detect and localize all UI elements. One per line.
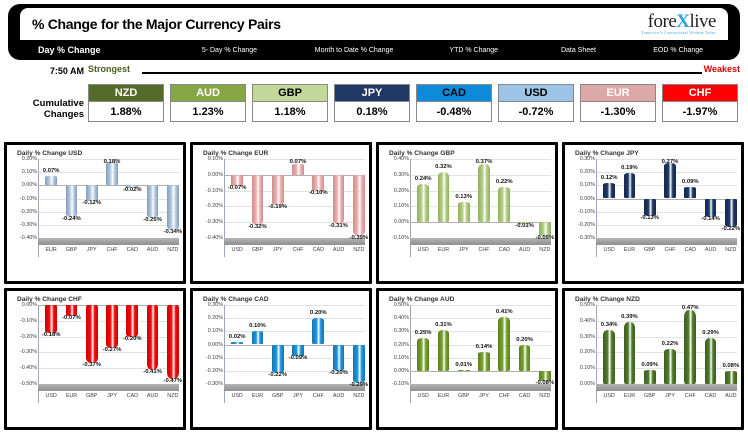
data-label-gbp: 0.09% xyxy=(641,362,658,368)
x-axis-label-eur: EUR xyxy=(438,247,449,253)
logo-x-icon: X xyxy=(676,11,689,32)
x-axis-label-usd: USD xyxy=(417,247,428,253)
y-axis-tick: 0.20% xyxy=(381,188,409,194)
data-label-aud: -0.14% xyxy=(701,216,720,222)
x-axis-label-gbp: GBP xyxy=(252,247,263,253)
data-label-usd: -0.18% xyxy=(42,332,61,338)
x-axis-label-aud: AUD xyxy=(147,247,158,253)
x-axis-label-chf: CHF xyxy=(685,393,696,399)
gridline xyxy=(596,305,737,306)
data-label-aud: -0.20% xyxy=(329,370,348,376)
bar-cad xyxy=(312,175,324,191)
x-axis-label-nzd: NZD xyxy=(353,393,364,399)
bar-jpy xyxy=(106,305,118,348)
data-label-usd: -0.07% xyxy=(228,185,247,191)
bar-chf xyxy=(684,310,696,384)
y-axis-tick: -0.30% xyxy=(195,219,223,225)
bar-aud xyxy=(725,371,737,384)
chart-grid: Daily % Change USD0.20%0.10%0.00%-0.10%-… xyxy=(4,142,744,430)
data-label-nzd: -0.22% xyxy=(722,226,741,232)
data-label-eur: 0.10% xyxy=(249,323,266,329)
x-axis-label-cad: CAD xyxy=(685,247,696,253)
x-axis-label-eur: EUR xyxy=(624,393,635,399)
chart-floor xyxy=(224,384,365,391)
x-axis-label-nzd: NZD xyxy=(539,247,550,253)
x-axis-label-chf: CHF xyxy=(664,247,675,253)
logo-text-post: live xyxy=(690,11,717,32)
bar-nzd xyxy=(353,175,365,237)
plot-area: 0.50%0.40%0.30%0.20%0.10%0.00%0.34%USD0.… xyxy=(565,305,741,427)
cumulative-cells: NZD1.88%AUD1.23%GBP1.18%JPY0.18%CAD-0.48… xyxy=(88,84,738,122)
tab-data-sheet[interactable]: Data Sheet xyxy=(529,47,629,54)
y-axis-tick: -0.20% xyxy=(9,209,37,215)
data-label-cad: 0.09% xyxy=(682,179,699,185)
bar-usd xyxy=(417,338,429,371)
chart-usd: Daily % Change USD0.20%0.10%0.00%-0.10%-… xyxy=(7,145,183,281)
data-label-eur: 0.39% xyxy=(621,314,638,320)
gridline xyxy=(224,305,365,306)
x-axis-label-gbp: GBP xyxy=(458,393,469,399)
gridline xyxy=(410,318,551,319)
data-label-eur: 0.32% xyxy=(435,164,452,170)
data-label-aud: 0.08% xyxy=(722,363,739,369)
gridline xyxy=(596,225,737,226)
currency-change-value: 0.18% xyxy=(334,102,410,122)
data-label-gbp: -0.32% xyxy=(248,224,267,230)
bar-nzd xyxy=(167,305,179,379)
y-axis-tick: -0.50% xyxy=(9,381,37,387)
bar-nzd xyxy=(167,185,179,230)
x-axis-label-gbp: GBP xyxy=(644,393,655,399)
data-label-usd: 0.12% xyxy=(601,175,618,181)
gridline xyxy=(410,305,551,306)
currency-code: CAD xyxy=(416,84,492,102)
page-title: % Change for the Major Currency Pairs xyxy=(32,16,281,32)
tab-day-change[interactable]: Day % Change xyxy=(20,45,170,55)
gridline xyxy=(224,331,365,332)
y-axis-tick: 0.30% xyxy=(567,334,595,340)
y-axis-tick: -0.20% xyxy=(9,334,37,340)
currency-change-value: -1.30% xyxy=(580,102,656,122)
bar-eur xyxy=(624,173,636,198)
y-axis-tick: 0.10% xyxy=(567,365,595,371)
y-axis-tick: 0.20% xyxy=(567,349,595,355)
tab-eod-change[interactable]: EOD % Change xyxy=(628,47,728,54)
x-axis-label-usd: USD xyxy=(231,247,242,253)
chart-floor xyxy=(596,384,737,391)
chart-floor xyxy=(596,238,737,245)
y-axis-tick: 0.00% xyxy=(381,368,409,374)
bar-gbp xyxy=(252,175,264,226)
data-label-aud: -0.25% xyxy=(143,217,162,223)
currency-code: GBP xyxy=(252,84,328,102)
bar-gbp xyxy=(644,370,656,384)
data-label-jpy: -0.09% xyxy=(289,355,308,361)
y-axis-tick: 0.00% xyxy=(381,219,409,225)
y-axis-tick: -0.30% xyxy=(567,235,595,241)
x-axis-label-eur: EUR xyxy=(252,393,263,399)
logo-tagline: Tomorrow's Conventional Wisdom Today xyxy=(642,32,716,36)
y-axis-tick: 0.30% xyxy=(567,156,595,162)
bar-chf xyxy=(312,318,324,344)
bar-gbp xyxy=(66,185,78,217)
currency-code: CHF xyxy=(662,84,738,102)
data-label-aud: -0.41% xyxy=(143,369,162,375)
bar-eur xyxy=(438,330,450,371)
x-axis-label-cad: CAD xyxy=(127,393,138,399)
y-axis-tick: -0.30% xyxy=(9,222,37,228)
data-label-cad: 0.22% xyxy=(496,179,513,185)
x-axis-label-jpy: JPY xyxy=(107,393,117,399)
chart-eur: Daily % Change EUR0.10%0.00%-0.10%-0.20%… xyxy=(193,145,369,281)
data-label-chf: 0.18% xyxy=(104,159,121,165)
y-axis-tick: -0.40% xyxy=(195,235,223,241)
x-axis-label-nzd: NZD xyxy=(725,247,736,253)
header-frame: % Change for the Major Currency Pairs fo… xyxy=(8,4,740,60)
data-label-usd: 0.25% xyxy=(415,330,432,336)
cumulative-cell-nzd: NZD1.88% xyxy=(88,84,164,122)
dashboard-root: % Change for the Major Currency Pairs fo… xyxy=(0,0,748,434)
cumulative-cell-eur: EUR-1.30% xyxy=(580,84,656,122)
y-axis-tick: 0.20% xyxy=(381,342,409,348)
currency-change-value: 1.18% xyxy=(252,102,328,122)
y-axis-tick: 0.10% xyxy=(381,203,409,209)
tab-5-day-change[interactable]: 5- Day % Change xyxy=(170,47,290,54)
data-label-usd: 0.02% xyxy=(229,334,246,340)
y-axis-tick: 0.40% xyxy=(381,156,409,162)
currency-change-value: 1.88% xyxy=(88,102,164,122)
y-axis-tick: 0.00% xyxy=(567,381,595,387)
y-axis-tick: 0.40% xyxy=(567,318,595,324)
plot-area: 0.30%0.20%0.10%0.00%-0.10%-0.20%-0.30%0.… xyxy=(565,159,741,281)
plot-area: 0.20%0.10%0.00%-0.10%-0.20%-0.30%-0.40%0… xyxy=(7,159,183,281)
data-label-cad: -0.20% xyxy=(123,336,142,342)
cumulative-changes-label: Cumulative Changes xyxy=(8,98,84,120)
x-axis-label-usd: USD xyxy=(45,393,56,399)
y-axis-tick: -0.10% xyxy=(9,318,37,324)
data-label-cad: 0.20% xyxy=(516,337,533,343)
bar-jpy xyxy=(86,185,98,201)
y-axis-tick: 0.20% xyxy=(567,169,595,175)
cumulative-cell-usd: USD-0.72% xyxy=(498,84,574,122)
y-axis-tick: 0.00% xyxy=(195,342,223,348)
chart-nzd: Daily % Change NZD0.50%0.40%0.30%0.20%0.… xyxy=(565,291,741,427)
chart-panel-cad: Daily % Change CAD0.30%0.20%0.10%0.00%-0… xyxy=(190,288,372,430)
data-label-nzd: -0.09% xyxy=(536,235,555,241)
y-axis-tick: 0.30% xyxy=(381,172,409,178)
chart-cad: Daily % Change CAD0.30%0.20%0.10%0.00%-0… xyxy=(193,291,369,427)
data-label-eur: -0.07% xyxy=(62,315,81,321)
x-axis-label-nzd: NZD xyxy=(539,393,550,399)
y-axis-tick: 0.30% xyxy=(195,302,223,308)
currency-code: EUR xyxy=(580,84,656,102)
chart-gbp: Daily % Change GBP0.40%0.30%0.20%0.10%0.… xyxy=(379,145,555,281)
currency-change-value: 1.23% xyxy=(170,102,246,122)
plot-area: 0.10%0.00%-0.10%-0.20%-0.30%-0.40%-0.07%… xyxy=(193,159,369,281)
x-axis-label-cad: CAD xyxy=(499,247,510,253)
chart-jpy: Daily % Change JPY0.30%0.20%0.10%0.00%-0… xyxy=(565,145,741,281)
data-label-usd: 0.24% xyxy=(415,176,432,182)
x-axis-label-nzd: NZD xyxy=(167,393,178,399)
currency-change-value: -0.72% xyxy=(498,102,574,122)
x-axis-label-chf: CHF xyxy=(478,247,489,253)
y-axis-tick: 0.00% xyxy=(9,302,37,308)
bar-gbp xyxy=(272,345,284,374)
bar-usd xyxy=(603,330,615,384)
x-axis-label-aud: AUD xyxy=(725,393,736,399)
x-axis-label-usd: USD xyxy=(417,393,428,399)
chart-chf: Daily % Change CHF0.00%-0.10%-0.20%-0.30… xyxy=(7,291,183,427)
data-label-cad: -0.10% xyxy=(309,190,328,196)
data-label-jpy: -0.19% xyxy=(268,204,287,210)
data-label-cad: 0.29% xyxy=(702,330,719,336)
data-label-nzd: -0.34% xyxy=(164,229,183,235)
x-axis-label-nzd: NZD xyxy=(167,247,178,253)
bar-usd xyxy=(603,183,615,199)
x-axis-label-chf: CHF xyxy=(499,393,510,399)
data-label-aud: -0.31% xyxy=(329,223,348,229)
chart-panel-gbp: Daily % Change GBP0.40%0.30%0.20%0.10%0.… xyxy=(376,142,558,284)
y-axis-tick: -0.40% xyxy=(9,365,37,371)
bar-jpy xyxy=(664,349,676,384)
y-axis-tick: 0.10% xyxy=(195,328,223,334)
chart-floor xyxy=(224,238,365,245)
data-label-nzd: -0.47% xyxy=(164,378,183,384)
data-label-chf: 0.41% xyxy=(496,309,513,315)
gridline xyxy=(224,318,365,319)
data-label-aud: -0.01% xyxy=(515,223,534,229)
cumulative-cell-gbp: GBP1.18% xyxy=(252,84,328,122)
y-axis-tick: -0.30% xyxy=(195,381,223,387)
y-axis-tick: 0.30% xyxy=(381,328,409,334)
tab-month-to-date-change[interactable]: Month to Date % Change xyxy=(289,47,419,54)
chart-panel-eur: Daily % Change EUR0.10%0.00%-0.10%-0.20%… xyxy=(190,142,372,284)
y-axis-tick: 0.00% xyxy=(567,196,595,202)
bar-jpy xyxy=(272,175,284,205)
x-axis-label-aud: AUD xyxy=(147,393,158,399)
bar-gbp xyxy=(458,370,470,371)
bar-chf xyxy=(498,317,510,371)
x-axis-label-jpy: JPY xyxy=(87,247,97,253)
x-axis-label-jpy: JPY xyxy=(479,393,489,399)
x-axis-label-chf: CHF xyxy=(313,393,324,399)
bar-jpy xyxy=(458,202,470,223)
data-label-jpy: 0.22% xyxy=(662,341,679,347)
x-axis-label-chf: CHF xyxy=(292,247,303,253)
data-label-chf: 0.47% xyxy=(682,305,699,311)
x-axis-label-chf: CHF xyxy=(106,247,117,253)
gridline xyxy=(38,225,179,226)
y-axis-tick: -0.20% xyxy=(195,368,223,374)
title-bar: % Change for the Major Currency Pairs fo… xyxy=(20,8,728,40)
plot-area: 0.50%0.40%0.30%0.20%0.10%0.00%-0.10%0.25… xyxy=(379,305,555,427)
chart-aud: Daily % Change AUD0.50%0.40%0.30%0.20%0.… xyxy=(379,291,555,427)
bar-gbp xyxy=(644,199,656,216)
x-axis-label-eur: EUR xyxy=(438,393,449,399)
bar-jpy xyxy=(478,352,490,370)
y-axis-tick: -0.10% xyxy=(381,381,409,387)
data-label-cad: -0.02% xyxy=(123,187,142,193)
x-axis-label-usd: USD xyxy=(603,393,614,399)
chart-panel-usd: Daily % Change USD0.20%0.10%0.00%-0.10%-… xyxy=(4,142,186,284)
bar-aud xyxy=(333,175,345,224)
y-axis-tick: 0.10% xyxy=(567,182,595,188)
bar-aud xyxy=(147,185,159,218)
y-axis-tick: -0.10% xyxy=(195,188,223,194)
y-axis-tick: 0.10% xyxy=(9,169,37,175)
bar-cad xyxy=(705,338,717,384)
bar-cad xyxy=(684,187,696,199)
bar-gbp xyxy=(86,305,98,363)
chart-panel-aud: Daily % Change AUD0.50%0.40%0.30%0.20%0.… xyxy=(376,288,558,430)
strongest-label: Strongest xyxy=(88,64,130,74)
chart-panel-chf: Daily % Change CHF0.00%-0.10%-0.20%-0.30… xyxy=(4,288,186,430)
gridline xyxy=(596,337,737,338)
weakest-label: Weakest xyxy=(704,64,740,74)
cumulative-section: Strongest Weakest 7:50 AM Cumulative Cha… xyxy=(0,62,748,138)
chart-floor xyxy=(410,238,551,245)
chart-floor xyxy=(410,384,551,391)
strength-axis-line xyxy=(142,72,702,74)
currency-change-value: -0.48% xyxy=(416,102,492,122)
currency-code: AUD xyxy=(170,84,246,102)
y-axis-tick: 0.20% xyxy=(9,156,37,162)
x-axis-label-eur: EUR xyxy=(66,393,77,399)
bar-nzd xyxy=(539,222,551,236)
x-axis-label-gbp: GBP xyxy=(66,247,77,253)
bar-chf xyxy=(664,163,676,199)
x-axis-label-jpy: JPY xyxy=(293,393,303,399)
bar-eur xyxy=(45,176,57,185)
currency-change-value: -1.97% xyxy=(662,102,738,122)
bar-aud xyxy=(705,199,717,217)
cumulative-cell-aud: AUD1.23% xyxy=(170,84,246,122)
x-axis-label-cad: CAD xyxy=(705,393,716,399)
y-axis-tick: -0.10% xyxy=(195,355,223,361)
bar-aud xyxy=(333,345,345,371)
tab-bar: Day % Change5- Day % ChangeMonth to Date… xyxy=(20,40,728,60)
y-axis-tick: -0.30% xyxy=(9,349,37,355)
y-axis-tick: 0.10% xyxy=(381,355,409,361)
bar-aud xyxy=(147,305,159,370)
x-axis-label-cad: CAD xyxy=(313,247,324,253)
x-axis-label-eur: EUR xyxy=(624,247,635,253)
currency-code: USD xyxy=(498,84,574,102)
y-axis-tick: -0.10% xyxy=(9,196,37,202)
chart-floor xyxy=(38,384,179,391)
data-label-chf: 0.27% xyxy=(662,159,679,165)
x-axis-label-jpy: JPY xyxy=(459,247,469,253)
bar-cad xyxy=(519,345,531,371)
y-axis-tick: -0.10% xyxy=(567,209,595,215)
data-label-gbp: -0.37% xyxy=(82,362,101,368)
data-label-chf: 0.37% xyxy=(476,159,493,165)
y-axis-tick: 0.50% xyxy=(381,302,409,308)
x-axis-label-aud: AUD xyxy=(333,247,344,253)
chart-panel-jpy: Daily % Change JPY0.30%0.20%0.10%0.00%-0… xyxy=(562,142,744,284)
y-axis-tick: -0.20% xyxy=(567,222,595,228)
data-label-nzd: -0.29% xyxy=(350,382,369,388)
cumulative-label-line1: Cumulative xyxy=(8,98,84,109)
tab-ytd-change[interactable]: YTD % Change xyxy=(419,47,529,54)
zero-line xyxy=(410,371,551,372)
chart-panel-nzd: Daily % Change NZD0.50%0.40%0.30%0.20%0.… xyxy=(562,288,744,430)
bar-eur xyxy=(438,172,450,223)
x-axis-label-aud: AUD xyxy=(705,247,716,253)
data-label-gbp: -0.13% xyxy=(640,215,659,221)
x-axis-label-usd: USD xyxy=(231,393,242,399)
data-label-jpy: 0.14% xyxy=(476,344,493,350)
bar-chf xyxy=(478,164,490,222)
currency-code: JPY xyxy=(334,84,410,102)
y-axis-tick: 0.20% xyxy=(195,315,223,321)
x-axis-label-jpy: JPY xyxy=(273,247,283,253)
data-label-gbp: -0.22% xyxy=(268,372,287,378)
y-axis-tick: -0.20% xyxy=(195,203,223,209)
data-label-jpy: -0.12% xyxy=(82,200,101,206)
plot-area: 0.40%0.30%0.20%0.10%0.00%-0.10%0.24%USD0… xyxy=(379,159,555,281)
y-axis-tick: -0.10% xyxy=(381,235,409,241)
x-axis-label-gbp: GBP xyxy=(644,247,655,253)
bar-chf xyxy=(292,164,304,175)
data-label-jpy: 0.13% xyxy=(455,194,472,200)
y-axis-tick: 0.10% xyxy=(195,156,223,162)
data-label-nzd: -0.39% xyxy=(350,235,369,241)
x-axis-label-eur: EUR xyxy=(45,247,56,253)
bar-nzd xyxy=(725,199,737,228)
y-axis-tick: 0.40% xyxy=(381,315,409,321)
data-label-chf: 0.20% xyxy=(310,310,327,316)
data-label-chf: 0.07% xyxy=(290,159,307,165)
bar-chf xyxy=(106,162,118,186)
x-axis-label-gbp: GBP xyxy=(86,393,97,399)
cumulative-cell-chf: CHF-1.97% xyxy=(662,84,738,122)
bar-cad xyxy=(126,305,138,337)
x-axis-label-usd: USD xyxy=(603,247,614,253)
x-axis-label-nzd: NZD xyxy=(353,247,364,253)
cumulative-cell-cad: CAD-0.48% xyxy=(416,84,492,122)
plot-area: 0.00%-0.10%-0.20%-0.30%-0.40%-0.50%-0.18… xyxy=(7,305,183,427)
data-label-eur: 0.19% xyxy=(621,165,638,171)
timestamp: 7:50 AM xyxy=(26,66,84,76)
data-label-eur: 0.31% xyxy=(435,322,452,328)
x-axis-label-aud: AUD xyxy=(519,247,530,253)
bar-usd xyxy=(417,184,429,222)
plot-area: 0.30%0.20%0.10%0.00%-0.10%-0.20%-0.30%0.… xyxy=(193,305,369,427)
y-axis-tick: 0.50% xyxy=(567,302,595,308)
bar-cad xyxy=(498,187,510,222)
x-axis-label-gbp: GBP xyxy=(272,393,283,399)
x-axis-label-cad: CAD xyxy=(519,393,530,399)
currency-code: NZD xyxy=(88,84,164,102)
data-label-usd: 0.34% xyxy=(601,322,618,328)
x-axis-label-aud: AUD xyxy=(333,393,344,399)
data-label-gbp: 0.01% xyxy=(455,362,472,368)
forexlive-logo: foreXlive Tomorrow's Conventional Wisdom… xyxy=(642,12,716,36)
x-axis-label-jpy: JPY xyxy=(665,393,675,399)
bar-nzd xyxy=(353,345,365,383)
bar-eur xyxy=(624,322,636,384)
x-axis-label-cad: CAD xyxy=(127,247,138,253)
logo-text-pre: fore xyxy=(648,11,677,32)
chart-floor xyxy=(38,238,179,245)
bar-usd xyxy=(45,305,57,333)
bar-eur xyxy=(252,331,264,344)
data-label-nzd: -0.08% xyxy=(536,380,555,386)
y-axis-tick: 0.00% xyxy=(9,182,37,188)
cumulative-label-line2: Changes xyxy=(8,109,84,120)
data-label-jpy: -0.27% xyxy=(103,347,122,353)
